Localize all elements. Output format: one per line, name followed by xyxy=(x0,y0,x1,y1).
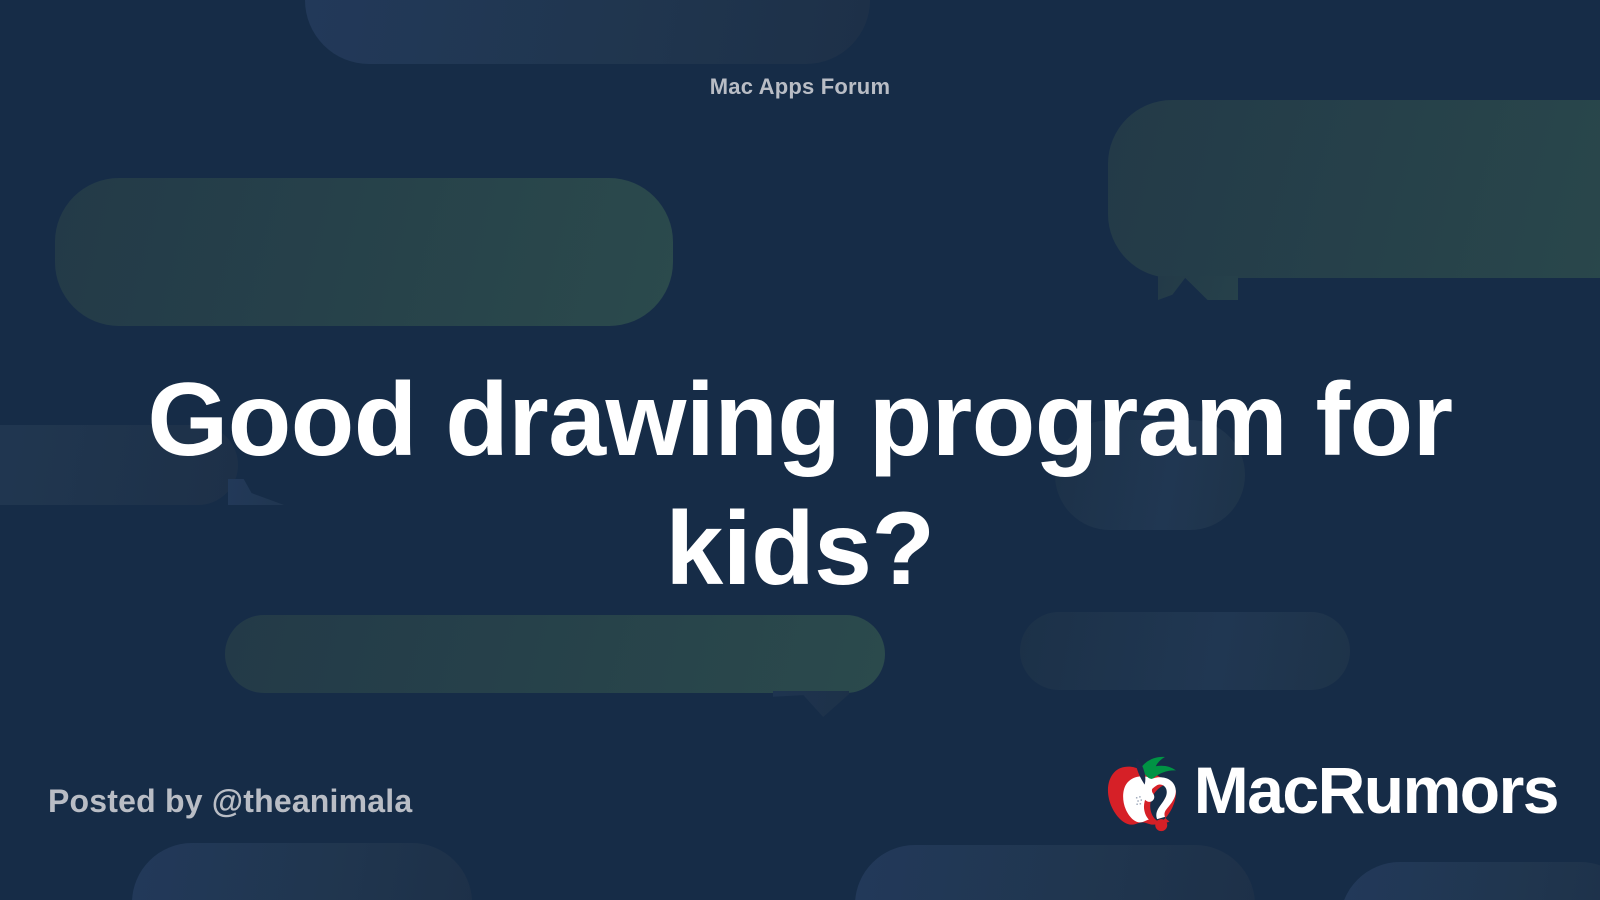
thread-share-card: Mac Apps Forum Good drawing program for … xyxy=(0,0,1600,900)
macrumors-wordmark: MacRumors xyxy=(1194,757,1558,823)
card-content: Mac Apps Forum Good drawing program for … xyxy=(0,0,1600,900)
macrumors-brand-lockup: MacRumors xyxy=(1094,746,1558,838)
forum-name-label: Mac Apps Forum xyxy=(0,74,1600,100)
thread-title: Good drawing program for kids? xyxy=(90,356,1510,614)
macrumors-apple-logo-icon xyxy=(1094,746,1188,838)
posted-by-label: Posted by @theanimala xyxy=(48,783,412,820)
